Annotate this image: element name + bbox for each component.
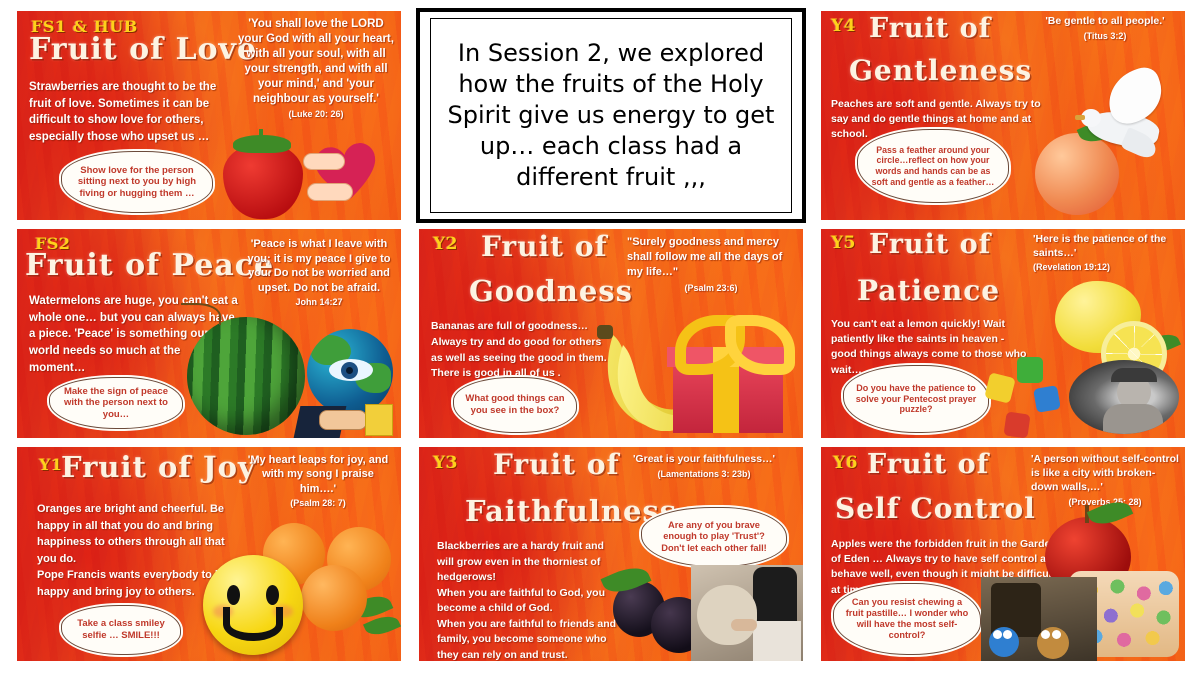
card-activity-bubble: Are any of you brave enough to play 'Tru… <box>641 507 787 567</box>
caption-inner-border: In Session 2, we explored how the fruits… <box>430 18 792 213</box>
verse-reference: (Titus 3:2) <box>1031 31 1179 43</box>
card-activity-bubble: Take a class smiley selfie … SMILE!!! <box>61 605 181 655</box>
card-activity-bubble: Can you resist chewing a fruit pastille…… <box>833 583 981 655</box>
card-title: Fruit of Love <box>29 35 257 65</box>
jigsaw-piece-blue <box>1033 385 1061 413</box>
verse-reference: (Lamentations 3: 23b) <box>611 469 797 481</box>
card-activity-bubble: Do you have the patience to solve your P… <box>843 365 989 433</box>
verse-text: 'A person without self-control is like a… <box>1031 453 1179 493</box>
card-title-line1: Fruit of <box>493 451 620 479</box>
card-tag: Y3 <box>433 453 458 473</box>
session-caption-box: In Session 2, we explored how the fruits… <box>416 8 806 223</box>
verse-reference: John 14:27 <box>245 297 393 309</box>
card-tag: Y5 <box>831 233 856 253</box>
white-dove-image <box>1081 69 1177 175</box>
card-verse: 'You shall love the LORD your God with a… <box>237 17 395 120</box>
muppets-photo <box>981 577 1097 661</box>
verse-reference: (Psalm 23:6) <box>627 282 795 294</box>
card-body: Blackberries are a hardy fruit and will … <box>437 539 623 663</box>
card-verse: "Surely goodness and mercy shall follow … <box>627 235 795 294</box>
verse-text: 'You shall love the LORD your God with a… <box>238 18 394 105</box>
card-tag: Y6 <box>833 453 858 473</box>
card-title: Fruit of Peace <box>25 251 274 281</box>
orange-image-3 <box>301 565 367 631</box>
watermelon-image <box>187 317 305 435</box>
card-verse: 'Here is the patience of the saints…' (R… <box>1033 233 1179 274</box>
card-verse: 'Be gentle to all people.' (Titus 3:2) <box>1031 15 1179 42</box>
card-fruit-of-joy[interactable]: Y1 Fruit of Joy Oranges are bright and c… <box>14 444 404 664</box>
gift-box-image <box>663 313 793 437</box>
jigsaw-piece-green <box>1017 357 1043 383</box>
card-title-line1: Fruit of <box>869 231 991 258</box>
hands-hugging-heart-image <box>303 139 389 213</box>
card-tag: Y4 <box>831 16 856 36</box>
card-verse: 'Peace is what I leave with you; it is m… <box>245 237 393 309</box>
card-title-line2: Self Control <box>835 495 1036 523</box>
card-fruit-of-gentleness[interactable]: Y4 Fruit of Gentleness Peaches are soft … <box>818 8 1188 223</box>
card-title-line2: Patience <box>857 277 1000 305</box>
card-fruit-of-love[interactable]: FS1 & HUB Fruit of Love Strawberries are… <box>14 8 404 223</box>
card-title-line1: Fruit of <box>869 15 991 42</box>
card-tag: Y1 <box>39 455 63 474</box>
card-title-line2: Goodness <box>469 277 633 306</box>
card-body: Strawberries are thought to be the fruit… <box>29 79 239 146</box>
card-fruit-of-peace[interactable]: FS2 Fruit of Peace Watermelons are huge,… <box>14 226 404 441</box>
photo-thinking-boy <box>1069 360 1179 434</box>
card-title: Fruit of Joy <box>61 453 256 482</box>
verse-reference: (Revelation 19:12) <box>1033 262 1179 274</box>
card-activity-bubble: Make the sign of peace with the person n… <box>49 377 183 429</box>
verse-text: 'Be gentle to all people.' <box>1045 15 1164 27</box>
strawberry-image <box>215 129 311 219</box>
verse-text: 'My heart leaps for joy, and with my son… <box>248 454 389 495</box>
card-title-line1: Fruit of <box>867 451 989 478</box>
card-fruit-of-patience[interactable]: Y5 Fruit of Patience You can't eat a lem… <box>818 226 1188 441</box>
card-activity-bubble: What good things can you see in the box? <box>453 377 577 433</box>
card-verse: 'My heart leaps for joy, and with my son… <box>245 453 391 510</box>
card-fruit-of-self-control[interactable]: Y6 Fruit of Self Control Apples were the… <box>818 444 1188 664</box>
verse-text: 'Here is the patience of the saints…' <box>1033 233 1166 259</box>
card-activity-bubble: Show love for the person sitting next to… <box>61 151 213 213</box>
card-fruit-of-faithfulness[interactable]: Y3 Fruit of Faithfulness Blackberries ar… <box>416 444 806 664</box>
poster-grid: FS1 & HUB Fruit of Love Strawberries are… <box>0 0 1200 675</box>
verse-text: 'Great is your faithfulness…' <box>633 453 775 465</box>
smiley-face-image <box>203 555 303 655</box>
verse-reference: (Luke 20: 26) <box>237 109 395 121</box>
jigsaw-piece-red <box>1003 411 1030 438</box>
verse-reference: (Psalm 28: 7) <box>245 498 391 510</box>
verse-text: 'Peace is what I leave with you; it is m… <box>247 238 390 294</box>
caption-text: In Session 2, we explored how the fruits… <box>439 38 783 194</box>
card-activity-bubble: Pass a feather around your circle…reflec… <box>857 129 1009 203</box>
photo-trust-fall <box>691 565 803 661</box>
card-body: Bananas are full of goodness… Always try… <box>431 319 611 382</box>
card-verse: 'A person without self-control is like a… <box>1031 453 1179 508</box>
handshake-image <box>297 394 397 438</box>
card-tag: Y2 <box>433 234 458 254</box>
card-verse: 'Great is your faithfulness…' (Lamentati… <box>611 453 797 480</box>
card-fruit-of-goodness[interactable]: Y2 Fruit of Goodness Bananas are full of… <box>416 226 806 441</box>
verse-text: "Surely goodness and mercy shall follow … <box>627 236 782 278</box>
card-title-line1: Fruit of <box>481 233 608 261</box>
card-title-line2: Gentleness <box>849 57 1032 85</box>
